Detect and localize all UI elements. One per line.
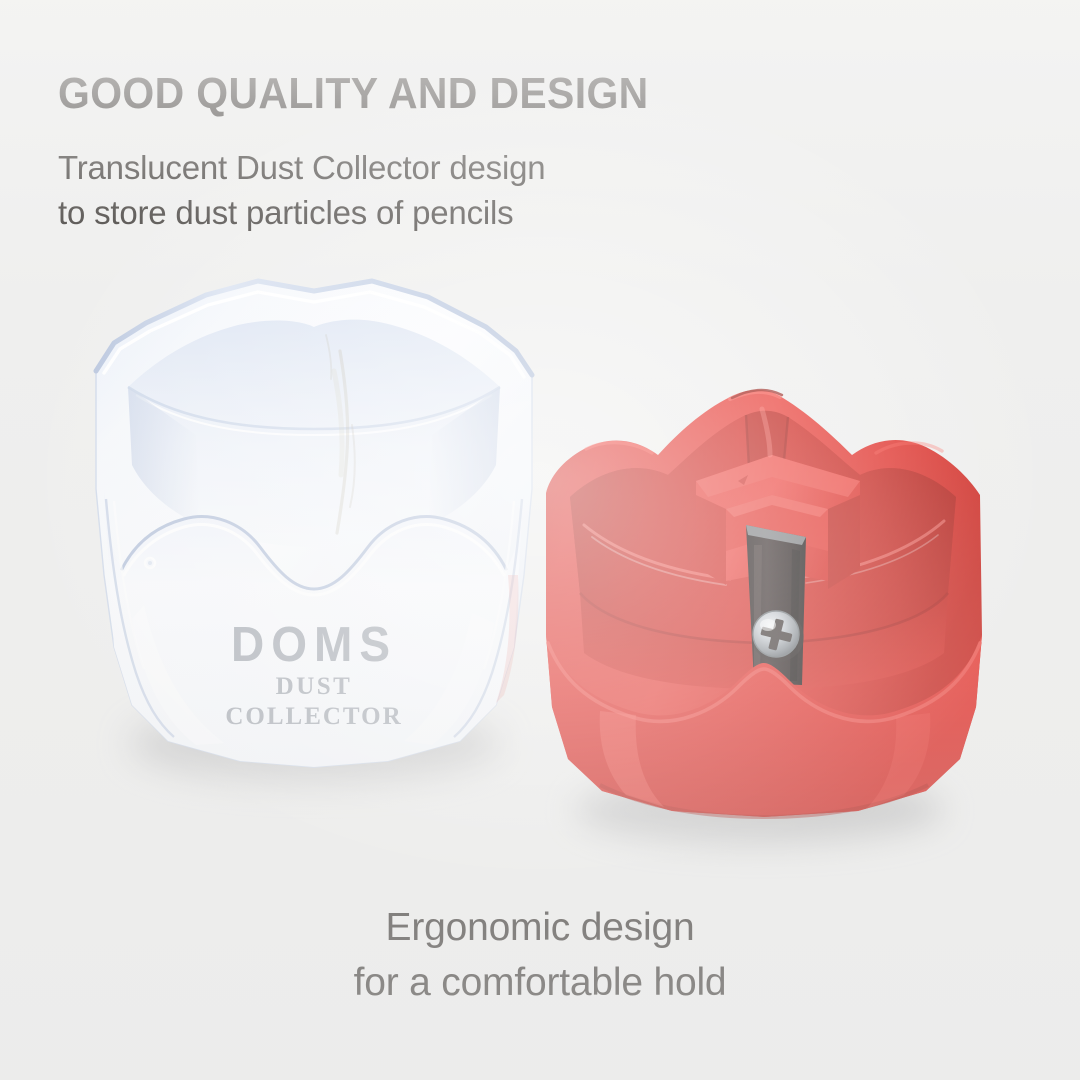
subheading-line-1: Translucent Dust Collector design	[58, 146, 545, 191]
brand-label-dust: DUST	[88, 673, 540, 701]
product-image-dust-collector: DOMS DUST COLLECTOR	[88, 275, 540, 775]
product-image-red-sharpener	[540, 385, 988, 840]
brand-label-collector: COLLECTOR	[88, 703, 540, 731]
subheading-line-2: to store dust particles of pencils	[58, 191, 545, 236]
red-sharpener-illustration	[540, 385, 988, 840]
moulding-pin-dot	[148, 561, 152, 565]
brand-logo-doms: DOMS	[88, 615, 540, 672]
caption-line-1: Ergonomic design	[0, 900, 1080, 955]
dust-collector-interior	[128, 320, 500, 547]
page-title: GOOD QUALITY AND DESIGN	[58, 72, 649, 116]
subheading: Translucent Dust Collector design to sto…	[58, 146, 545, 235]
caption-line-2: for a comfortable hold	[0, 955, 1080, 1010]
bottom-caption: Ergonomic design for a comfortable hold	[0, 900, 1080, 1011]
product-feature-image: GOOD QUALITY AND DESIGN Translucent Dust…	[0, 0, 1080, 1080]
